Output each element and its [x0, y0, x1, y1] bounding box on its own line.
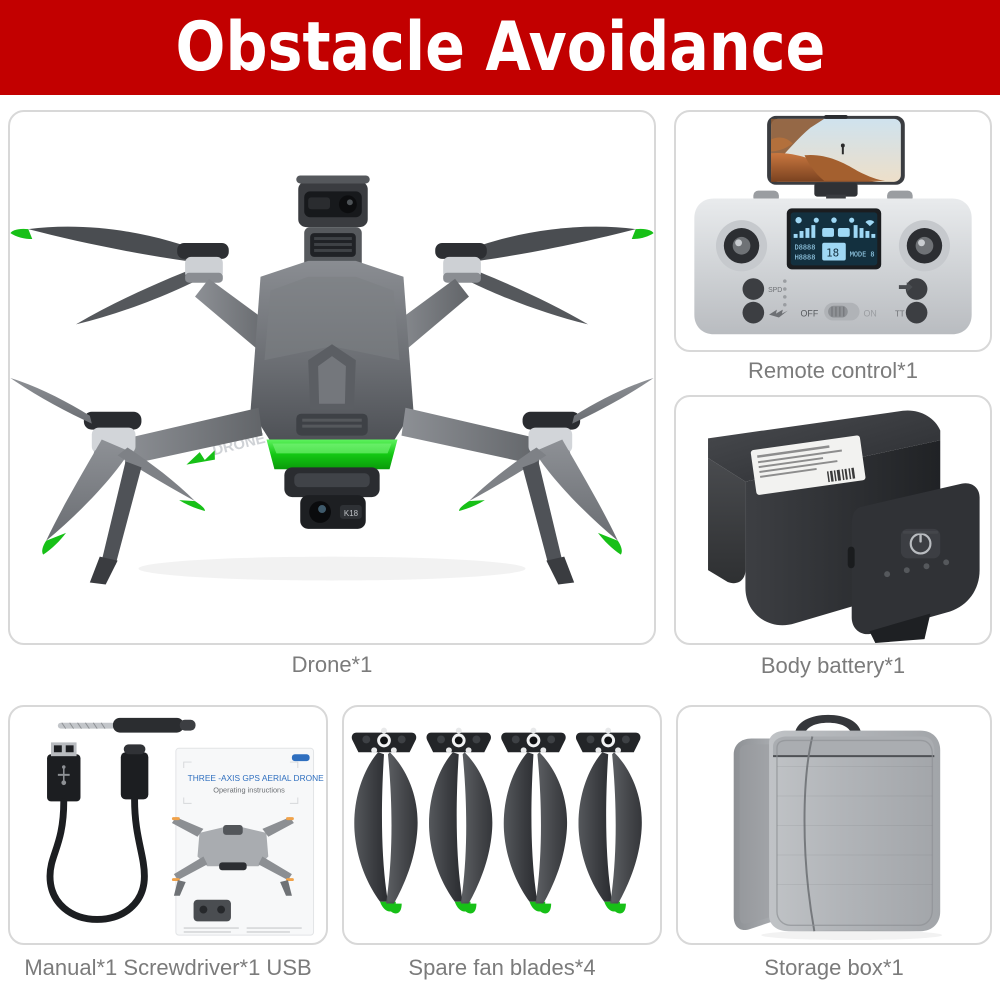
accessories-illustration: THREE -AXIS GPS AERIAL DRONE Operating i… [10, 707, 326, 943]
dial-photo-label: TT [895, 310, 905, 319]
button-speed-label: SPD [768, 287, 782, 294]
joystick-left [716, 220, 767, 271]
button-speed [743, 278, 765, 300]
spare-blade-2 [426, 728, 492, 914]
panel-battery [674, 395, 992, 645]
usb-cable [47, 742, 148, 919]
propeller-front-right [459, 378, 654, 555]
bag-main-body [769, 731, 940, 932]
spare-blade-1 [352, 728, 418, 914]
switch-on-label: ON [863, 309, 876, 319]
header-banner: Obstacle Avoidance [0, 0, 1000, 95]
lcd-readout-right: MODE 8 [850, 251, 875, 259]
phone-clamp [814, 183, 857, 197]
remote-illustration: D8888 H8888 18 MODE 8 SPD [676, 112, 990, 350]
page-title: Obstacle Avoidance [175, 14, 825, 82]
propeller-front-left [10, 378, 205, 555]
blades-illustration [344, 707, 660, 943]
joystick-right [899, 220, 950, 271]
manual-subtitle: Operating instructions [213, 786, 285, 795]
storage-box-illustration [678, 707, 990, 943]
usb-c-connector [121, 752, 149, 799]
manual-remote-thumbnail [194, 900, 231, 922]
arm-front-right [401, 408, 542, 466]
lcd-readout-center: 18 [826, 247, 839, 260]
drone-illustration: DRONE K18 [10, 112, 654, 643]
caption-accessories: Manual*1 Screwdriver*1 USB [8, 955, 328, 981]
lcd-display: D8888 H8888 18 MODE 8 [787, 208, 881, 269]
usb-c-port [848, 547, 855, 569]
panel-remote-control: D8888 H8888 18 MODE 8 SPD [674, 110, 992, 352]
manual-title: THREE -AXIS GPS AERIAL DRONE [188, 773, 324, 783]
battery-front-face [852, 483, 980, 634]
panel-drone: DRONE K18 [8, 110, 656, 645]
bag-zipper-lid [773, 737, 934, 757]
caption-spare-blades: Spare fan blades*4 [342, 955, 662, 981]
arm-front-left [122, 408, 263, 466]
caption-remote-control: Remote control*1 [674, 358, 992, 384]
caption-drone: Drone*1 [8, 652, 656, 678]
caption-storage-box: Storage box*1 [676, 955, 992, 981]
screwdriver [58, 718, 196, 733]
spare-blade-3 [501, 728, 567, 914]
mounted-phone [767, 115, 905, 185]
dial-photo [906, 302, 928, 324]
motor-rear-right [435, 243, 487, 283]
led-strip [266, 440, 397, 470]
panel-storage-box [676, 705, 992, 945]
switch-off-label: OFF [801, 309, 819, 319]
gimbal-camera: K18 [284, 467, 379, 529]
spare-blade-4 [576, 728, 642, 914]
lcd-readout-left-top: D8888 [795, 244, 816, 252]
screwdriver-handle [113, 718, 184, 733]
power-button [901, 529, 940, 559]
panel-accessories: THREE -AXIS GPS AERIAL DRONE Operating i… [8, 705, 328, 945]
panel-spare-blades [342, 705, 662, 945]
caption-battery: Body battery*1 [674, 653, 992, 679]
lcd-readout-left-bottom: H8888 [795, 254, 816, 262]
battery-illustration [676, 397, 990, 643]
svg-text:K18: K18 [344, 509, 359, 518]
button-return-home [743, 302, 765, 324]
manual-booklet: THREE -AXIS GPS AERIAL DRONE Operating i… [172, 748, 324, 935]
